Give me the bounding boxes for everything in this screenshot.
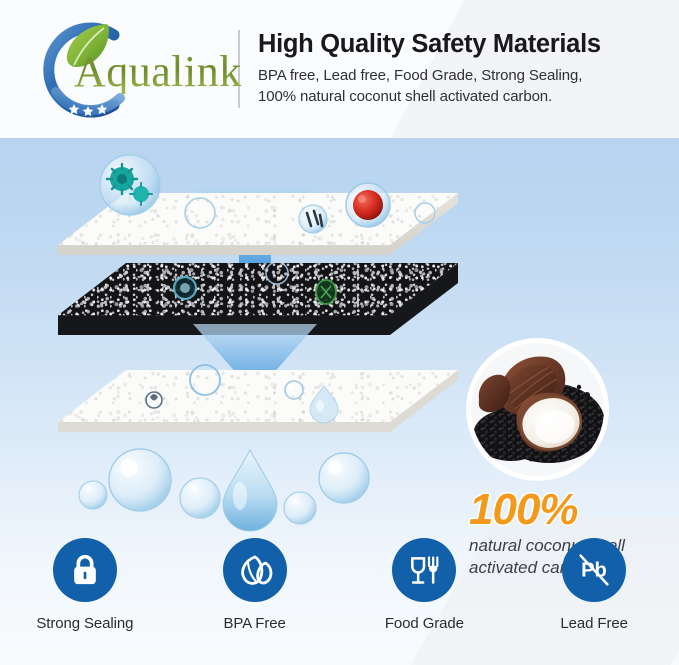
leaves-icon	[234, 549, 276, 591]
illustration-stage: 100% natural coconut shell activated car…	[0, 138, 679, 665]
page-title: High Quality Safety Materials	[258, 30, 665, 60]
header-banner: Aqualink High Quality Safety Materials B…	[0, 0, 679, 138]
percent-value: 100%	[469, 488, 663, 532]
badge-label: Lead Free	[560, 615, 627, 632]
badge-food-grade[interactable]: Food Grade	[340, 538, 510, 632]
badge-icon-circle	[392, 538, 456, 602]
bottom-white-filter-layer	[58, 370, 458, 438]
badge-label: Strong Sealing	[36, 615, 133, 632]
brand-logo: Aqualink	[36, 14, 232, 124]
bottom-layer-clean-drops	[58, 354, 458, 438]
badge-strong-sealing[interactable]: Strong Sealing	[0, 538, 170, 632]
badge-icon-circle: Pb	[562, 538, 626, 602]
feature-badges-row: Strong Sealing BPA Free	[0, 538, 679, 632]
badge-icon-circle	[223, 538, 287, 602]
top-layer-contaminants	[52, 151, 464, 271]
water-droplets-group	[72, 438, 382, 546]
badge-label: Food Grade	[385, 615, 464, 632]
pb-no-lead-icon: Pb	[571, 547, 617, 593]
brand-name: Aqualink	[74, 50, 242, 94]
top-white-filter-layer	[58, 193, 458, 261]
coconut-shell-carbon-photo-icon	[471, 343, 604, 476]
padlock-icon	[65, 550, 105, 590]
infographic-page: Aqualink High Quality Safety Materials B…	[0, 0, 679, 665]
header-subtitle-line-2: 100% natural coconut shell activated car…	[258, 86, 665, 107]
glass-fork-icon	[404, 550, 444, 590]
badge-lead-free[interactable]: Pb Lead Free	[509, 538, 679, 632]
header-text-block: High Quality Safety Materials BPA free, …	[258, 30, 679, 107]
badge-icon-circle	[53, 538, 117, 602]
header-subtitle-line-1: BPA free, Lead free, Food Grade, Strong …	[258, 65, 665, 86]
badge-label: BPA Free	[223, 615, 285, 632]
badge-bpa-free[interactable]: BPA Free	[170, 538, 340, 632]
